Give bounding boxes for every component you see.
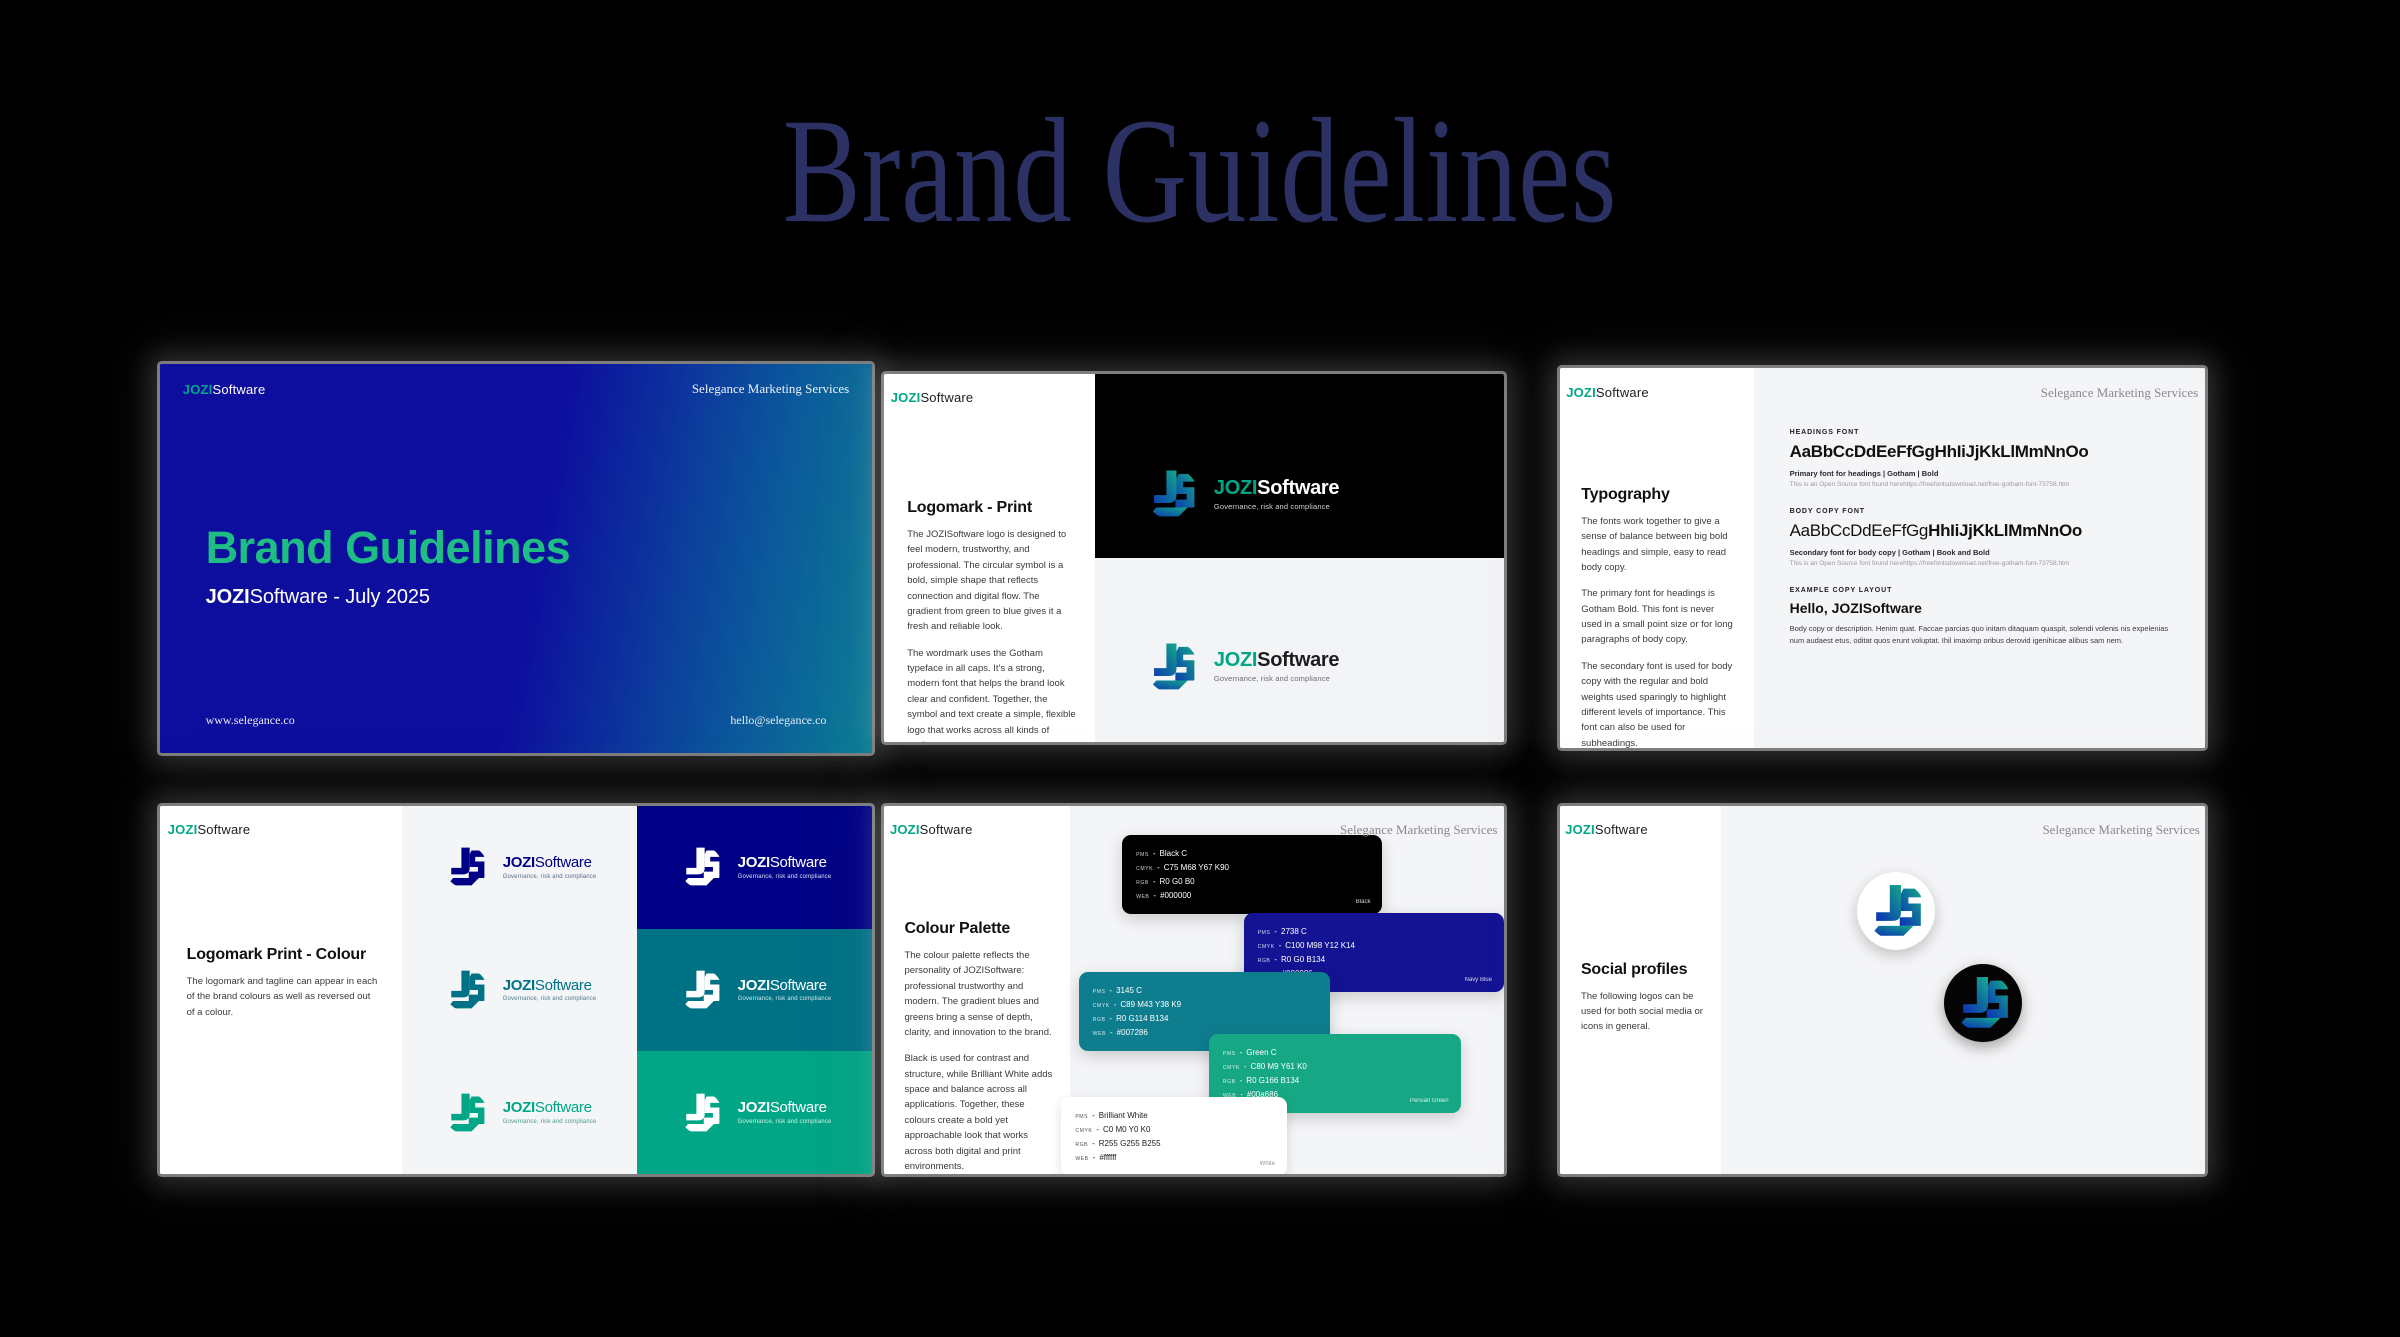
swatch-value-web: #007286 — [1117, 1026, 1148, 1040]
body-font-block: BODY COPY FONT AaBbCcDdEeFfGgHhIiJjKkLlM… — [1790, 508, 2178, 567]
swatch-key-cmyk: CMYK — [1258, 943, 1275, 952]
lockup-tagline: Governance, risk and compliance — [1214, 674, 1339, 683]
swatch-value-pms: 2738 C — [1281, 925, 1307, 939]
jozi-logomark-icon — [1144, 466, 1200, 522]
left-pane: JOZISoftware Logomark - Print The JOZISo… — [884, 374, 1095, 742]
swatch-value-cmyk: C100 M98 Y12 K14 — [1285, 939, 1355, 953]
panel-title: Social profiles — [1581, 961, 1715, 979]
swatch-value-web: #000000 — [1160, 889, 1191, 903]
swatch-key-cmyk: CMYK — [1093, 1002, 1110, 1011]
wordmark-jozi: JOZI — [738, 854, 770, 871]
lockup-text: JOZISoftware Governance, risk and compli… — [738, 855, 832, 880]
swatch-cmyk-row: CMYK-C75 M68 Y67 K90 — [1136, 861, 1368, 875]
logo-lockup-dark: JOZISoftware Governance, risk and compli… — [1144, 466, 1339, 522]
social-badge-light[interactable] — [1857, 872, 1935, 950]
right-pane — [1721, 806, 2205, 1174]
lockup-tagline: Governance, risk and compliance — [738, 1119, 832, 1125]
lockup-text: JOZISoftware Governance, risk and compli… — [738, 978, 832, 1003]
swatch-rgb-row: RGB-R0 G0 B0 — [1136, 875, 1368, 889]
swatch-key-web: WEB — [1136, 893, 1149, 902]
lockup-text: JOZISoftware Governance, risk and compli… — [503, 855, 597, 880]
swatch-key-web: WEB — [1093, 1030, 1106, 1039]
paragraph: The fonts work together to give a sense … — [1581, 514, 1736, 576]
swatch-key-rgb: RGB — [1136, 879, 1149, 888]
right-pane: JOZISoftware Governance, risk and compli… — [1095, 374, 1504, 742]
typography-specimens: HEADINGS FONT AaBbCcDdEeFfGgHhIiJjKkLlMm… — [1790, 429, 2178, 648]
wordmark-software: Software — [212, 382, 265, 397]
swatch-value-pms: 3145 C — [1116, 984, 1142, 998]
lockup-tagline: Governance, risk and compliance — [503, 1119, 597, 1125]
panel-body: The following logos can be used for both… — [1581, 989, 1715, 1035]
cover-subtitle-brand: JOZI — [206, 586, 250, 608]
grid-cell: JOZISoftware Governance, risk and compli… — [402, 806, 637, 929]
swatch-name: Black — [1356, 899, 1371, 905]
wordmark-jozi: JOZI — [503, 1099, 535, 1116]
body-font-meta: Secondary font for body copy | Gotham | … — [1790, 548, 2178, 557]
lockup-text: JOZISoftware Governance, risk and compli… — [503, 1100, 597, 1125]
lockup-wordmark: JOZISoftware — [738, 855, 832, 871]
slide-colour-palette[interactable]: JOZISoftware Selegance Marketing Service… — [884, 806, 1504, 1174]
lockup-tagline: Governance, risk and compliance — [738, 874, 832, 880]
paragraph: The logomark and tagline can appear in e… — [187, 974, 381, 1020]
swatch-key-pms: PMS — [1258, 929, 1271, 938]
cover-footer-website[interactable]: www.selegance.co — [206, 713, 295, 728]
swatch-key-cmyk: CMYK — [1075, 1127, 1092, 1136]
jozi-logomark-icon — [678, 1090, 724, 1136]
panel-title: Logomark - Print — [907, 499, 1076, 517]
swatch-rgb-row: RGB-R0 G0 B134 — [1258, 953, 1490, 967]
swatch-value-rgb: R0 G166 B134 — [1246, 1074, 1299, 1088]
left-pane: JOZISoftware Selegance Marketing Service… — [1560, 368, 1754, 748]
headings-font-source[interactable]: This is an Open Source font found hereht… — [1790, 481, 2178, 488]
wordmark-jozi: JOZI — [168, 822, 198, 837]
swatch-pms-row: PMS-3145 C — [1093, 984, 1317, 998]
wordmark-jozi: JOZI — [738, 977, 770, 994]
grid-cell: JOZISoftware Governance, risk and compli… — [637, 929, 872, 1052]
swatch-key-pms: PMS — [1223, 1050, 1236, 1059]
grid-cell: JOZISoftware Governance, risk and compli… — [637, 1051, 872, 1174]
swatch-pms-row: PMS-Brilliant White — [1075, 1109, 1273, 1123]
swatch-value-cmyk: C80 M9 Y61 K0 — [1251, 1060, 1307, 1074]
swatch-value-pms: Green C — [1246, 1046, 1276, 1060]
grid-cell: JOZISoftware Governance, risk and compli… — [402, 929, 637, 1052]
swatch-value-rgb: R0 G0 B134 — [1281, 953, 1325, 967]
example-copy-heading: Hello, JOZISoftware — [1790, 600, 2178, 616]
swatch-cmyk-row: CMYK-C80 M9 Y61 K0 — [1223, 1060, 1447, 1074]
left-pane-content: Colour Palette The colour palette reflec… — [904, 920, 1053, 1174]
slide-social-profiles[interactable]: JOZISoftware Selegance Marketing Service… — [1560, 806, 2205, 1174]
cover-subtitle-rest: Software - July 2025 — [250, 586, 430, 608]
paragraph: Black is used for contrast and structure… — [904, 1051, 1053, 1174]
swatch-pms-row: PMS-Green C — [1223, 1046, 1447, 1060]
page-title: Brand Guidelines — [264, 96, 2136, 246]
lockup-tagline: Governance, risk and compliance — [1214, 502, 1339, 511]
swatch-key-cmyk: CMYK — [1223, 1064, 1240, 1073]
presentation-canvas: Brand Guidelines JOZISoftware Selegance … — [0, 0, 2400, 1337]
swatch-value-rgb: R0 G0 B0 — [1160, 875, 1195, 889]
slide-cover[interactable]: JOZISoftware Selegance Marketing Service… — [160, 364, 872, 753]
left-pane: JOZISoftware Selegance Marketing Service… — [1560, 806, 1721, 1174]
paragraph: The following logos can be used for both… — [1581, 989, 1715, 1035]
slide-logomark-print[interactable]: JOZISoftware Logomark - Print The JOZISo… — [884, 374, 1504, 742]
example-copy-label: EXAMPLE COPY LAYOUT — [1790, 587, 2178, 594]
wordmark-software: Software — [1595, 822, 1648, 837]
lockup-tagline: Governance, risk and compliance — [503, 874, 597, 880]
logomark-colour-grid: JOZISoftware Governance, risk and compli… — [402, 806, 872, 1174]
left-pane: JOZISoftware Selegance Marketing Service… — [884, 806, 1070, 1174]
lockup-wordmark: JOZISoftware — [1214, 478, 1339, 499]
lockup-wordmark: JOZISoftware — [503, 1100, 597, 1116]
swatch-key-rgb: RGB — [1075, 1141, 1088, 1150]
lockup-wordmark: JOZISoftware — [1214, 650, 1339, 671]
swatch-value-rgb: R255 G255 B255 — [1099, 1137, 1161, 1151]
lockup-wordmark: JOZISoftware — [503, 855, 597, 871]
grid-cell: JOZISoftware Governance, risk and compli… — [402, 1051, 637, 1174]
left-pane-content: Social profiles The following logos can … — [1581, 961, 1715, 1035]
swatch-key-rgb: RGB — [1093, 1016, 1106, 1025]
lockup-text: JOZISoftware Governance, risk and compli… — [738, 1100, 832, 1125]
logo-lockup: JOZISoftware Governance, risk and compli… — [443, 967, 597, 1013]
swatch-key-pms: PMS — [1093, 988, 1106, 997]
jozi-logomark-icon — [443, 1090, 489, 1136]
colour-swatch[interactable]: PMS-Brilliant White CMYK-C0 M0 Y0 K0 RGB… — [1061, 1097, 1287, 1174]
wordmark-jozi: JOZI — [503, 854, 535, 871]
body-font-label: BODY COPY FONT — [1790, 508, 2178, 515]
logo-lockup: JOZISoftware Governance, risk and compli… — [678, 967, 832, 1013]
swatch-pms-row: PMS-2738 C — [1258, 925, 1490, 939]
lockup-tagline: Governance, risk and compliance — [503, 996, 597, 1002]
swatch-rgb-row: RGB-R0 G114 B134 — [1093, 1012, 1317, 1026]
wordmark-jozi: JOZI — [183, 382, 213, 397]
jozi-logomark-icon — [1865, 880, 1927, 942]
panel-title: Colour Palette — [904, 920, 1053, 938]
wordmark-software: Software — [197, 822, 250, 837]
swatch-web-row: WEB-#000000 — [1136, 889, 1368, 903]
left-pane-content: Logomark - Print The JOZISoftware logo i… — [907, 499, 1076, 742]
example-copy-block: EXAMPLE COPY LAYOUT Hello, JOZISoftware … — [1790, 587, 2178, 648]
lockup-wordmark: JOZISoftware — [738, 1100, 832, 1116]
lockup-wordmark: JOZISoftware — [738, 978, 832, 994]
swatch-name: Navy Blue — [1465, 977, 1492, 983]
body-font-source[interactable]: This is an Open Source font found hereht… — [1790, 560, 2178, 567]
wordmark-jozi: JOZI — [738, 1099, 770, 1116]
swatch-cmyk-row: CMYK-C0 M0 Y0 K0 — [1075, 1123, 1273, 1137]
brand-wordmark: JOZISoftware — [183, 382, 266, 397]
wordmark-jozi: JOZI — [1566, 385, 1596, 400]
jozi-logomark-icon — [678, 967, 724, 1013]
swatch-key-cmyk: CMYK — [1136, 865, 1153, 874]
logo-lockup: JOZISoftware Governance, risk and compli… — [678, 1090, 832, 1136]
swatch-cmyk-row: CMYK-C89 M43 Y38 K9 — [1093, 998, 1317, 1012]
left-pane-content: Typography The fonts work together to gi… — [1581, 486, 1736, 748]
logo-lockup-light: JOZISoftware Governance, risk and compli… — [1144, 639, 1339, 695]
right-pane: HEADINGS FONT AaBbCcDdEeFfGgHhIiJjKkLlMm… — [1754, 368, 2206, 748]
lockup-text: JOZISoftware Governance, risk and compli… — [1214, 650, 1339, 683]
swatch-key-rgb: RGB — [1258, 957, 1271, 966]
jozi-logomark-icon — [443, 844, 489, 890]
right-pane: PMS-Black C CMYK-C75 M68 Y67 K90 RGB-R0 … — [1070, 806, 1504, 1174]
paragraph: The wordmark uses the Gotham typeface in… — [907, 646, 1076, 742]
swatch-value-cmyk: C0 M0 Y0 K0 — [1103, 1123, 1150, 1137]
logo-lockup: JOZISoftware Governance, risk and compli… — [443, 844, 597, 890]
paragraph: The colour palette reflects the personal… — [904, 948, 1053, 1040]
panel-body: The fonts work together to give a sense … — [1581, 514, 1736, 748]
headings-font-label: HEADINGS FONT — [1790, 429, 2178, 436]
social-badge-dark[interactable] — [1944, 964, 2022, 1042]
swatch-pms-row: PMS-Black C — [1136, 847, 1368, 861]
wordmark-jozi: JOZI — [1214, 649, 1257, 671]
swatch-value-rgb: R0 G114 B134 — [1116, 1012, 1168, 1026]
logo-lockup: JOZISoftware Governance, risk and compli… — [678, 844, 832, 890]
jozi-logomark-icon — [678, 844, 724, 890]
headings-font-meta: Primary font for headings | Gotham | Bol… — [1790, 469, 2178, 478]
headings-font-block: HEADINGS FONT AaBbCcDdEeFfGgHhIiJjKkLlMm… — [1790, 429, 2178, 488]
paragraph: The secondary font is used for body copy… — [1581, 659, 1736, 748]
wordmark-software: Software — [1257, 477, 1339, 499]
brand-wordmark: JOZISoftware — [168, 822, 251, 837]
brand-wordmark: JOZISoftware — [890, 822, 973, 837]
swatch-value-pms: Brilliant White — [1099, 1109, 1148, 1123]
wordmark-software: Software — [1257, 649, 1339, 671]
cover-footer-email[interactable]: hello@selegance.co — [730, 713, 826, 728]
swatch-key-pms: PMS — [1075, 1113, 1088, 1122]
wordmark-jozi: JOZI — [503, 977, 535, 994]
slide-header: JOZISoftware Selegance Marketing Service… — [160, 364, 872, 415]
slide-logomark-colour[interactable]: JOZISoftware Logomark Print - Colour The… — [160, 806, 872, 1174]
swatch-key-web: WEB — [1075, 1155, 1088, 1164]
swatch-value-web: #ffffff — [1099, 1151, 1116, 1165]
panel-title: Logomark Print - Colour — [187, 946, 381, 964]
slide-typography[interactable]: JOZISoftware Selegance Marketing Service… — [1560, 368, 2205, 748]
wordmark-software: Software — [535, 1099, 592, 1116]
example-copy-body: Body copy or description. Henim quat. Fa… — [1790, 623, 2178, 648]
wordmark-jozi: JOZI — [1214, 477, 1257, 499]
panel-title: Typography — [1581, 486, 1736, 504]
headings-font-sample: AaBbCcDdEeFfGgHhIiJjKkLlMmNnOo — [1790, 442, 2178, 462]
swatch-key-rgb: RGB — [1223, 1078, 1236, 1087]
swatch-rgb-row: RGB-R255 G255 B255 — [1075, 1137, 1273, 1151]
grid-cell: JOZISoftware Governance, risk and compli… — [637, 806, 872, 929]
jozi-logomark-icon — [443, 967, 489, 1013]
left-pane-content: Logomark Print - Colour The logomark and… — [187, 946, 381, 1020]
swatch-name: Persian Green — [1410, 1098, 1449, 1104]
left-pane: JOZISoftware Logomark Print - Colour The… — [160, 806, 402, 1174]
panel-body: The JOZISoftware logo is designed to fee… — [907, 527, 1076, 742]
lockup-text: JOZISoftware Governance, risk and compli… — [1214, 478, 1339, 511]
swatch-value-cmyk: C75 M68 Y67 K90 — [1164, 861, 1229, 875]
swatch-name: White — [1260, 1161, 1275, 1167]
panel-body: The colour palette reflects the personal… — [904, 948, 1053, 1174]
wordmark-software: Software — [1596, 385, 1649, 400]
wordmark-jozi: JOZI — [1565, 822, 1595, 837]
lockup-text: JOZISoftware Governance, risk and compli… — [503, 978, 597, 1003]
wordmark-software: Software — [920, 390, 973, 405]
paragraph: The JOZISoftware logo is designed to fee… — [907, 527, 1076, 635]
agency-name: Selegance Marketing Services — [692, 381, 849, 397]
wordmark-software: Software — [770, 977, 827, 994]
paragraph: The primary font for headings is Gotham … — [1581, 586, 1736, 648]
brand-wordmark: JOZISoftware — [1566, 385, 1649, 400]
body-font-sample: AaBbCcDdEeFfGgHhIiJjKkLlMmNnOo — [1790, 521, 2178, 541]
wordmark-software: Software — [920, 822, 973, 837]
swatch-rgb-row: RGB-R0 G166 B134 — [1223, 1074, 1447, 1088]
swatch-cmyk-row: CMYK-C100 M98 Y12 K14 — [1258, 939, 1490, 953]
body-font-sample-bold: HhIiJjKkLlMmNnOo — [1928, 521, 2082, 540]
colour-swatch[interactable]: PMS-Black C CMYK-C75 M68 Y67 K90 RGB-R0 … — [1122, 835, 1382, 914]
brand-wordmark: JOZISoftware — [1565, 822, 1648, 837]
swatch-value-pms: Black C — [1160, 847, 1188, 861]
jozi-logomark-icon — [1144, 639, 1200, 695]
jozi-logomark-icon — [1952, 972, 2014, 1034]
body-font-sample-regular: AaBbCcDdEeFfGg — [1790, 521, 1928, 540]
panel-body: The logomark and tagline can appear in e… — [187, 974, 381, 1020]
wordmark-software: Software — [535, 854, 592, 871]
brand-wordmark: JOZISoftware — [891, 390, 974, 405]
swatch-web-row: WEB-#ffffff — [1075, 1151, 1273, 1165]
logo-lockup: JOZISoftware Governance, risk and compli… — [443, 1090, 597, 1136]
swatch-key-pms: PMS — [1136, 851, 1149, 860]
wordmark-jozi: JOZI — [891, 390, 921, 405]
wordmark-software: Software — [535, 977, 592, 994]
lockup-wordmark: JOZISoftware — [503, 978, 597, 994]
swatch-value-cmyk: C89 M43 Y38 K9 — [1120, 998, 1181, 1012]
wordmark-software: Software — [770, 854, 827, 871]
cover-title: Brand Guidelines — [206, 522, 571, 574]
cover-subtitle: JOZISoftware - July 2025 — [206, 586, 430, 609]
wordmark-software: Software — [770, 1099, 827, 1116]
wordmark-jozi: JOZI — [890, 822, 920, 837]
lockup-tagline: Governance, risk and compliance — [738, 996, 832, 1002]
